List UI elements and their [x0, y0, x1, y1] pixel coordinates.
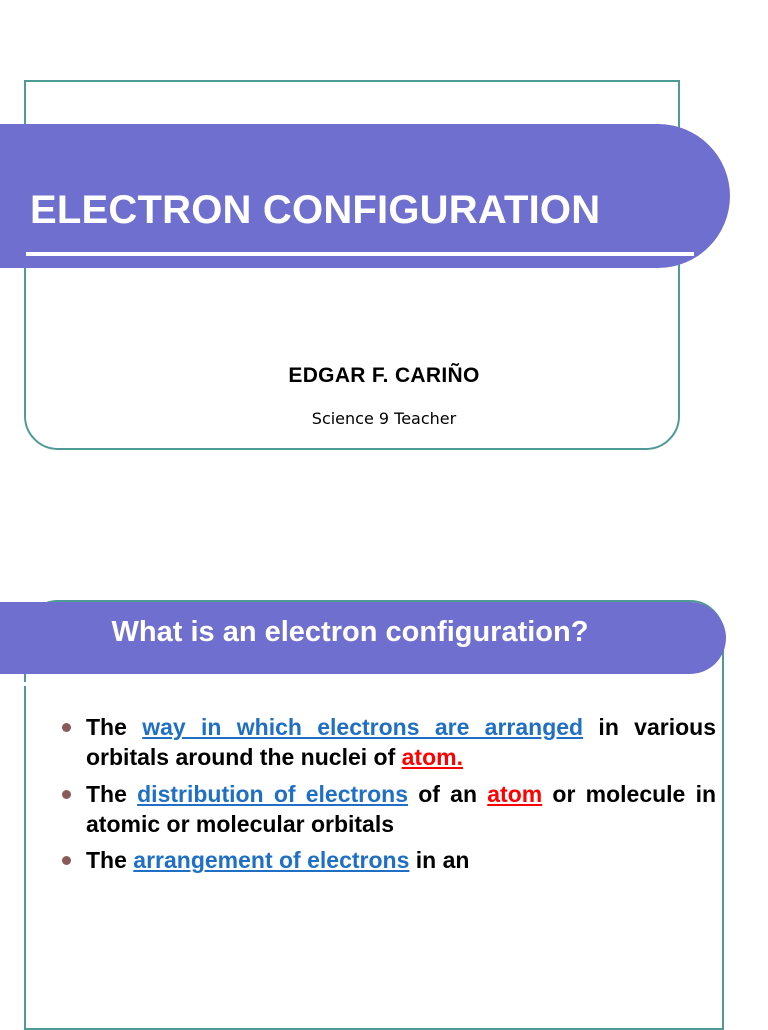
list-item: The way in which electrons are arranged … [58, 712, 716, 773]
author-name: EDGAR F. CARIÑO [0, 364, 768, 388]
slide-definition-title: What is an electron configuration? [0, 616, 700, 649]
slide-title: ELECTRON CONFIGURATION EDGAR F. CARIÑO S… [0, 0, 768, 560]
bullet-dot-icon [62, 723, 71, 732]
slide-title-text: ELECTRON CONFIGURATION [30, 190, 710, 230]
bullet-dot-icon [62, 856, 71, 865]
bullet-list: The way in which electrons are arranged … [58, 712, 716, 882]
bullet-text: The arrangement of electrons in an [86, 847, 469, 873]
bullet-text: The distribution of electrons of an atom… [86, 781, 716, 837]
slide-definition: What is an electron configuration? The w… [0, 560, 768, 1024]
slide-title-underline [26, 252, 694, 256]
list-item: The distribution of electrons of an atom… [58, 779, 716, 840]
bullet-dot-icon [62, 790, 71, 799]
bullet-text: The way in which electrons are arranged … [86, 714, 716, 770]
author-role: Science 9 Teacher [0, 409, 768, 428]
list-item: The arrangement of electrons in an [58, 845, 716, 875]
slide-definition-underline [24, 682, 684, 686]
